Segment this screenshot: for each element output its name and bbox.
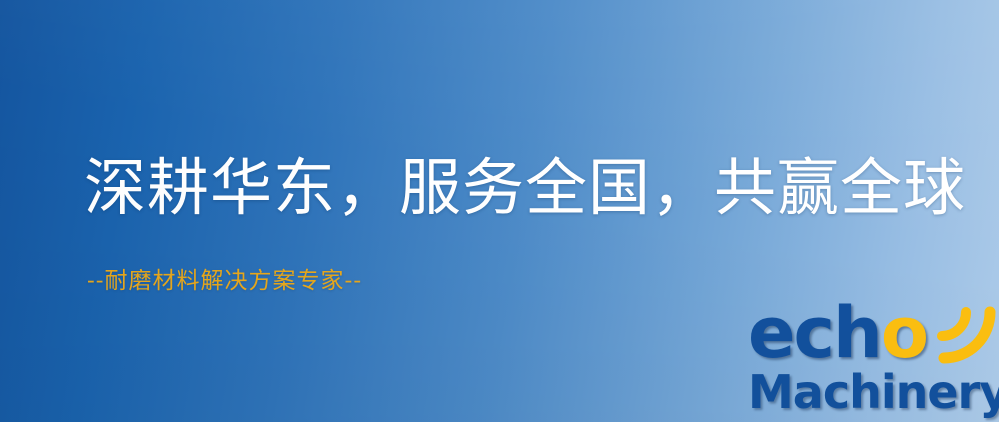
echo-waves-icon (926, 294, 999, 366)
logo-word-o: o (881, 292, 927, 374)
logo-tagline: Machinery® (748, 364, 999, 418)
logo-wordmark: echo (748, 300, 927, 366)
banner-subheadline: --耐磨材料解决方案专家-- (87, 265, 362, 297)
logo-tagline-text: Machinery (748, 365, 999, 419)
logo-word-ech: ech (748, 292, 881, 374)
echo-machinery-logo[interactable]: echo Machinery® (748, 300, 999, 422)
promo-banner: 深耕华东，服务全国，共赢全球 --耐磨材料解决方案专家-- echo Machi… (0, 0, 999, 422)
banner-headline: 深耕华东，服务全国，共赢全球 (84, 152, 966, 224)
